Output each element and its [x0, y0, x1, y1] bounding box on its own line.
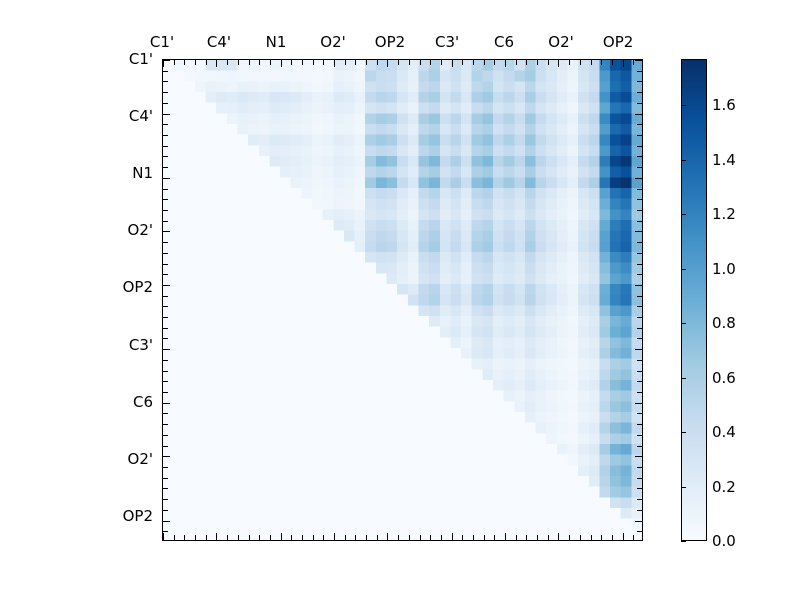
colorbar-tick-label: 1.4 — [712, 151, 736, 169]
colorbar-tick-label: 0.8 — [712, 314, 736, 332]
colorbar-tick-label: 0.2 — [712, 478, 736, 496]
heatmap-image — [163, 60, 642, 540]
y-tick-label: O2' — [0, 221, 153, 239]
colorbar-tick-mark — [681, 378, 686, 379]
colorbar-tick-mark — [681, 269, 686, 270]
y-tick-label: N1 — [0, 164, 153, 182]
colorbar-gradient — [682, 60, 706, 540]
x-tick-label: C6 — [494, 33, 514, 51]
colorbar-tick-label: 1.6 — [712, 96, 736, 114]
y-tick-label: OP2 — [0, 507, 153, 525]
colorbar-tick-mark — [681, 487, 686, 488]
x-tick-label: OP2 — [603, 33, 633, 51]
y-tick-label: OP2 — [0, 278, 153, 296]
x-tick-label: C4' — [207, 33, 231, 51]
y-tick-label: C1' — [0, 50, 153, 68]
y-tick-label: C3' — [0, 336, 153, 354]
colorbar-tick-label: 1.2 — [712, 205, 736, 223]
heatmap-plot-area[interactable] — [162, 59, 643, 541]
colorbar-tick-label: 1.0 — [712, 260, 736, 278]
figure-canvas: C1'C4'N1O2'OP2C3'C6O2'OP2 C1'C4'N1O2'OP2… — [0, 0, 800, 600]
y-tick-label: O2' — [0, 450, 153, 468]
colorbar-tick-mark — [681, 541, 686, 542]
x-tick-label: C1' — [150, 33, 174, 51]
x-tick-label: N1 — [266, 33, 287, 51]
x-tick-label: OP2 — [375, 33, 405, 51]
colorbar-tick-mark — [681, 432, 686, 433]
colorbar-tick-mark — [681, 160, 686, 161]
colorbar-tick-label: 0.4 — [712, 423, 736, 441]
colorbar-tick-label: 0.0 — [712, 532, 736, 550]
colorbar-tick-mark — [681, 214, 686, 215]
colorbar-tick-label: 0.6 — [712, 369, 736, 387]
y-tick-label: C6 — [0, 393, 153, 411]
colorbar[interactable] — [681, 59, 707, 541]
y-tick-label: C4' — [0, 107, 153, 125]
x-tick-label: O2' — [320, 33, 345, 51]
colorbar-tick-mark — [681, 323, 686, 324]
x-tick-label: C3' — [435, 33, 459, 51]
colorbar-tick-mark — [681, 105, 686, 106]
x-tick-label: O2' — [548, 33, 573, 51]
